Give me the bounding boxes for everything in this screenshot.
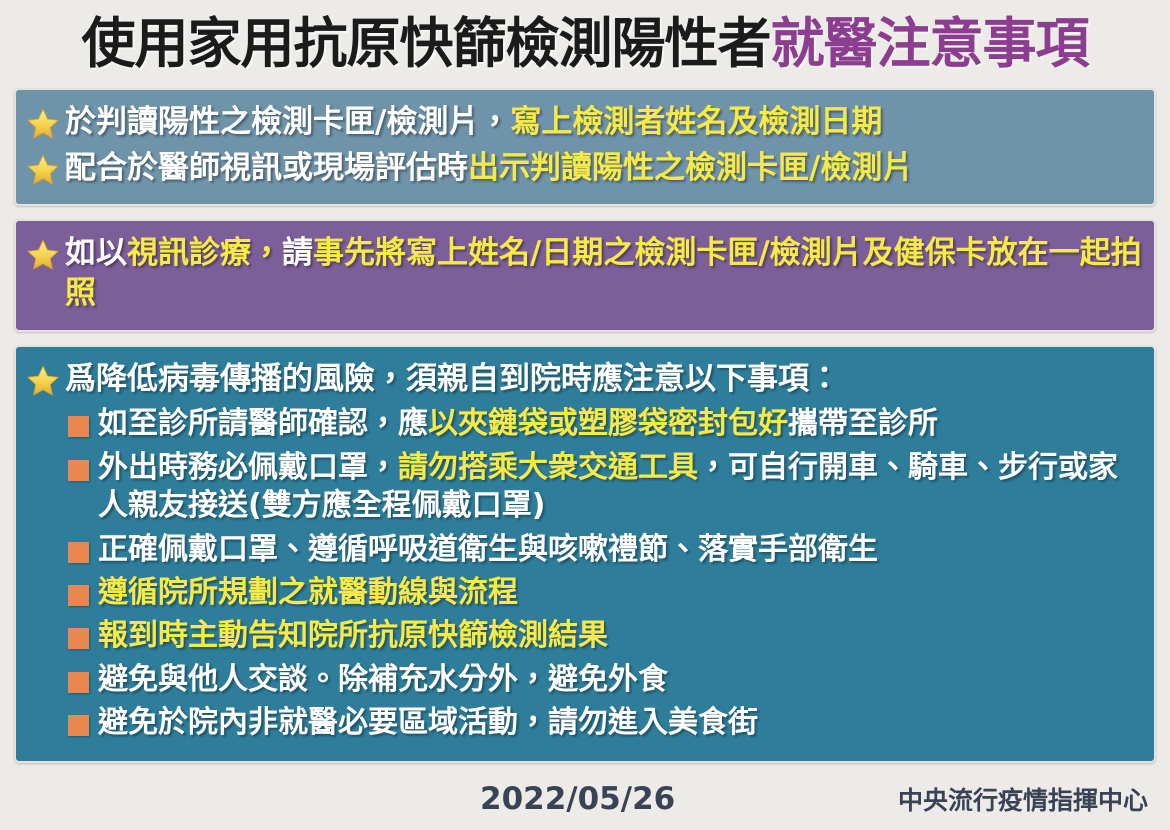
highlighted-text: 遵循院所規劃之就醫動線與流程 (98, 575, 518, 610)
bullet-text: 如以視訊診療，請事先將寫上姓名/日期之檢測卡匣/檢測片及健保卡放在一起拍照 (65, 234, 1144, 313)
plain-text: 攜帶至診所 (788, 406, 938, 441)
plain-text: 外出時務必佩戴口罩， (98, 450, 398, 485)
bullet-text: 爲降低病毒傳播的風險，須親自到院時應注意以下事項： (65, 360, 1144, 400)
bullet-row: 避免於院內非就醫必要區域活動，請勿進入美食街 (68, 704, 1144, 742)
plain-text: 如至診所請醫師確認，應 (98, 406, 428, 441)
bullet-row: 避免與他人交談。除補充水分外，避免外食 (68, 661, 1144, 699)
bullet-row: 如至診所請醫師確認，應以夾鏈袋或塑膠袋密封包好攜帶至診所 (68, 405, 1144, 443)
bullet-text: 遵循院所規劃之就醫動線與流程 (98, 574, 1144, 612)
bullet-text: 報到時主動告知院所抗原快篩檢測結果 (98, 617, 1144, 655)
highlighted-text: 請勿搭乘大衆交通工具 (398, 450, 698, 485)
square-bullet-icon (68, 715, 89, 736)
bullet-row: 正確佩戴口罩、遵循呼吸道衛生與咳嗽禮節、落實手部衛生 (68, 531, 1144, 569)
star-icon (26, 107, 60, 141)
panel-lead-row: 爲降低病毒傳播的風險，須親自到院時應注意以下事項： (26, 360, 1144, 400)
highlighted-text: 寫上檢測者姓名及檢測日期 (510, 104, 882, 140)
highlighted-text: 出示判讀陽性之檢測卡匣/檢測片 (468, 150, 913, 186)
sub-bullet-list: 如至診所請醫師確認，應以夾鏈袋或塑膠袋密封包好攜帶至診所外出時務必佩戴口罩，請勿… (68, 405, 1144, 742)
square-bullet-icon (68, 672, 89, 693)
bullet-row: 於判讀陽性之檢測卡匣/檢測片，寫上檢測者姓名及檢測日期 (26, 103, 1144, 143)
plain-text: 爲降低病毒傳播的風險，須親自到院時應注意以下事項： (65, 361, 840, 397)
panel-telemedicine: 如以視訊診療，請事先將寫上姓名/日期之檢測卡匣/檢測片及健保卡放在一起拍照 (14, 219, 1156, 331)
plain-text: 於判讀陽性之檢測卡匣/檢測片， (65, 104, 510, 140)
square-bullet-icon (68, 460, 89, 481)
highlighted-text: 以夾鏈袋或塑膠袋密封包好 (428, 406, 788, 441)
bullet-row: 報到時主動告知院所抗原快篩檢測結果 (68, 617, 1144, 655)
panel-in-person-visit: 爲降低病毒傳播的風險，須親自到院時應注意以下事項：如至診所請醫師確認，應以夾鏈袋… (14, 345, 1156, 764)
bullet-text: 於判讀陽性之檢測卡匣/檢測片，寫上檢測者姓名及檢測日期 (65, 103, 1144, 143)
star-icon (26, 238, 60, 272)
footer: 2022/05/26 中央流行疫情指揮中心 (0, 776, 1170, 822)
highlighted-text: 視訊診療， (127, 235, 282, 271)
plain-text: 正確佩戴口罩、遵循呼吸道衛生與咳嗽禮節、落實手部衛生 (98, 532, 878, 567)
bullet-text: 外出時務必佩戴口罩，請勿搭乘大衆交通工具，可自行開車、騎車、步行或家人親友接送(… (98, 449, 1144, 526)
star-icon (26, 364, 60, 398)
square-bullet-icon (68, 542, 89, 563)
plain-text: 配合於醫師視訊或現場評估時 (65, 150, 468, 186)
bullet-row: 外出時務必佩戴口罩，請勿搭乘大衆交通工具，可自行開車、騎車、步行或家人親友接送(… (68, 449, 1144, 526)
footer-date: 2022/05/26 (480, 781, 675, 817)
plain-text: 避免於院內非就醫必要區域活動，請勿進入美食街 (98, 705, 758, 740)
bullet-row: 配合於醫師視訊或現場評估時出示判讀陽性之檢測卡匣/檢測片 (26, 149, 1144, 189)
plain-text: 避免與他人交談。除補充水分外，避免外食 (98, 662, 668, 697)
footer-organization: 中央流行疫情指揮中心 (898, 781, 1148, 817)
bullet-text: 避免於院內非就醫必要區域活動，請勿進入美食街 (98, 704, 1144, 742)
bullet-row: 遵循院所規劃之就醫動線與流程 (68, 574, 1144, 612)
bullet-text: 正確佩戴口罩、遵循呼吸道衛生與咳嗽禮節、落實手部衛生 (98, 531, 1144, 569)
panel-testing-kit: 於判讀陽性之檢測卡匣/檢測片，寫上檢測者姓名及檢測日期配合於醫師視訊或現場評估時… (14, 88, 1156, 206)
page-title: 使用家用抗原快篩檢測陽性者就醫注意事項 (0, 0, 1170, 88)
plain-text: 請 (282, 235, 313, 271)
bullet-row: 如以視訊診療，請事先將寫上姓名/日期之檢測卡匣/檢測片及健保卡放在一起拍照 (26, 234, 1144, 313)
bullet-text: 避免與他人交談。除補充水分外，避免外食 (98, 661, 1144, 699)
page-title-accent: 就醫注意事項 (771, 12, 1089, 75)
square-bullet-icon (68, 628, 89, 649)
highlighted-text: 報到時主動告知院所抗原快篩檢測結果 (98, 618, 608, 653)
square-bullet-icon (68, 585, 89, 606)
bullet-text: 配合於醫師視訊或現場評估時出示判讀陽性之檢測卡匣/檢測片 (65, 149, 1144, 189)
bullet-text: 如至診所請醫師確認，應以夾鏈袋或塑膠袋密封包好攜帶至診所 (98, 405, 1144, 443)
page-title-main: 使用家用抗原快篩檢測陽性者 (82, 12, 771, 75)
square-bullet-icon (68, 416, 89, 437)
star-icon (26, 153, 60, 187)
plain-text: 如以 (65, 235, 127, 271)
panel-list: 於判讀陽性之檢測卡匣/檢測片，寫上檢測者姓名及檢測日期配合於醫師視訊或現場評估時… (0, 88, 1170, 763)
